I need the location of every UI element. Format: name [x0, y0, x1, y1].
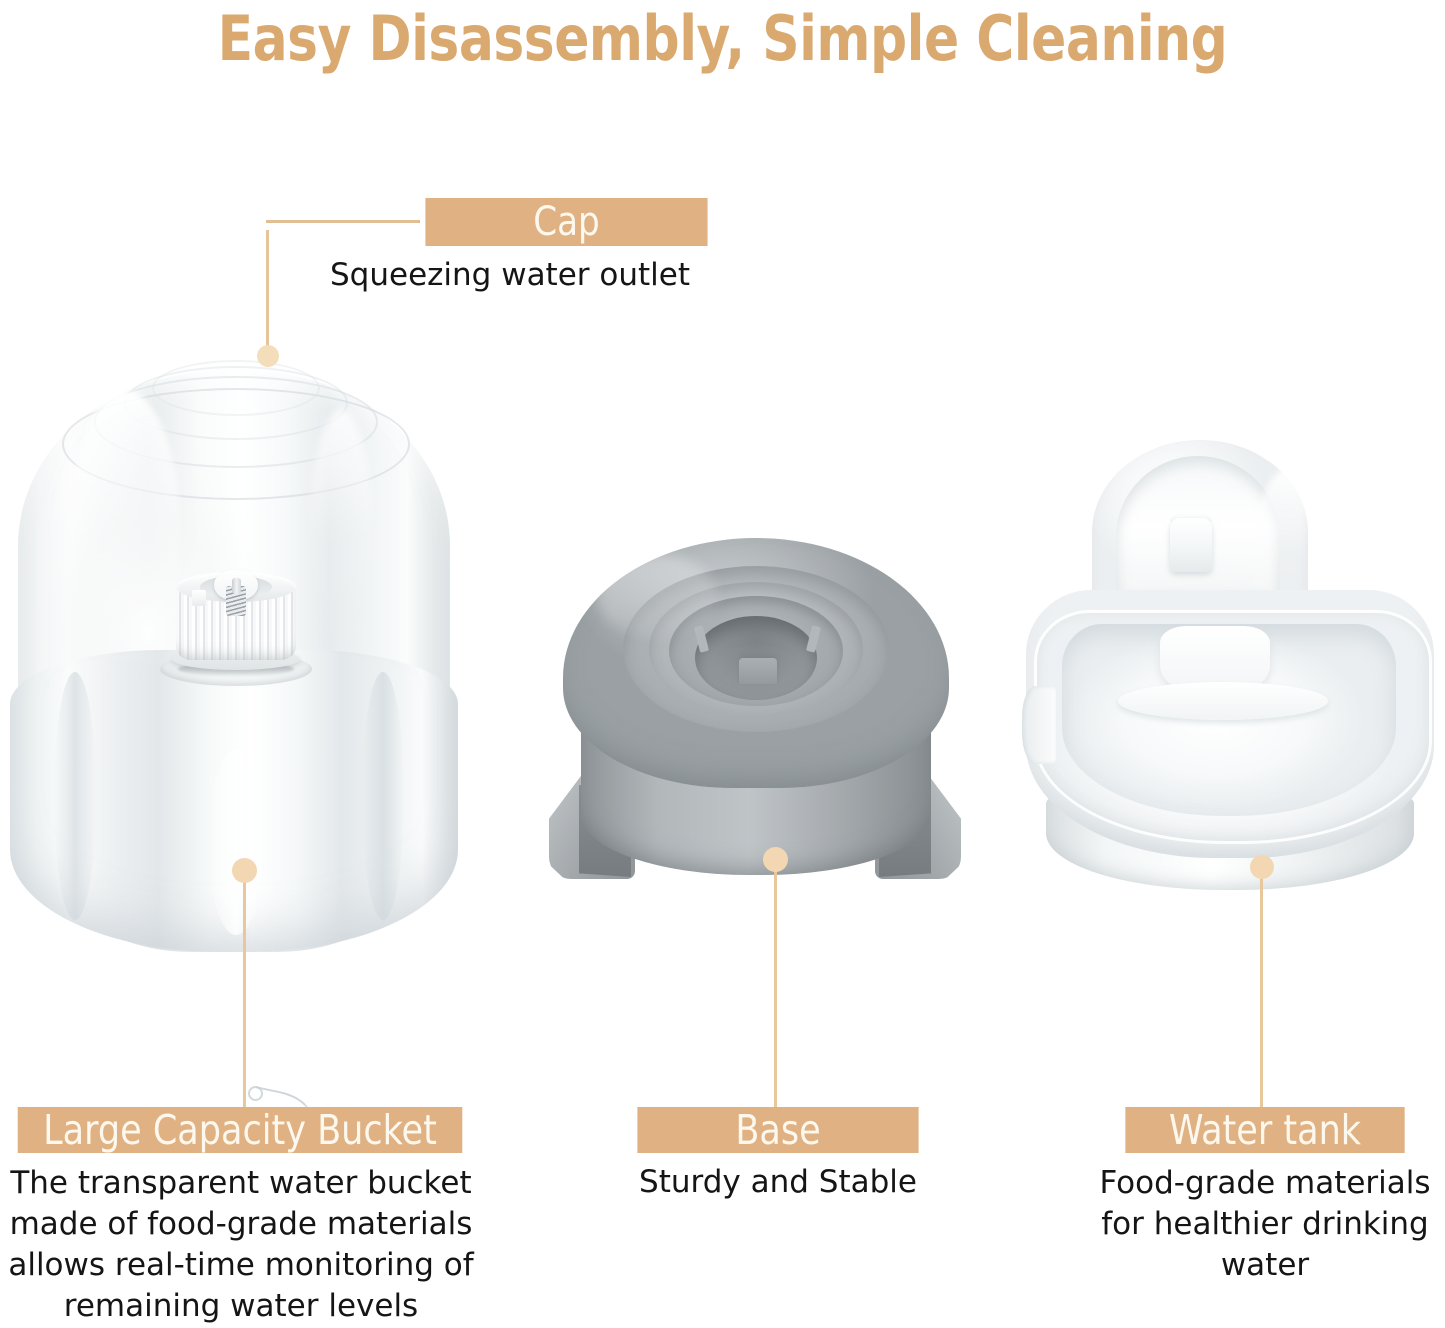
callout-label-cap: Cap: [425, 198, 707, 246]
callout-description-base: Sturdy and Stable: [630, 1163, 926, 1202]
product-image-base: [545, 530, 965, 930]
bucket-highlight: [310, 410, 372, 660]
base-socket-key: [739, 658, 777, 684]
callout-leader-line-cap: [266, 230, 269, 358]
callout-label-base: Base: [637, 1107, 918, 1153]
callout-leader-line-cap: [266, 220, 420, 223]
bucket-groove: [208, 750, 264, 935]
callout-dot-bucket: [232, 858, 257, 883]
product-image-cap: [170, 564, 302, 670]
cap-notch: [192, 590, 206, 606]
callout-description-large-capacity-bucket: The transparent water bucket made of foo…: [0, 1163, 482, 1327]
callout-dot-water-tank: [1250, 855, 1274, 879]
page-title: Easy Disassembly, Simple Cleaning: [51, 0, 1395, 78]
bucket-molded-mark-icon: [248, 1086, 263, 1101]
callout-leader-line-water-tank: [1260, 867, 1263, 1110]
callout-dot-base: [763, 847, 788, 872]
callout-label-large-capacity-bucket: Large Capacity Bucket: [18, 1107, 463, 1153]
product-image-water-tank: [1020, 440, 1440, 940]
callout-leader-line-bucket: [243, 870, 246, 1110]
tank-side-tab: [1022, 686, 1056, 764]
bucket-groove: [362, 672, 404, 920]
callout-dot-cap: [257, 345, 279, 367]
callout-description-water-tank: Food-grade materials for healthier drink…: [1090, 1163, 1440, 1286]
callout-description-cap: Squeezing water outlet: [330, 256, 830, 295]
callout-label-water-tank: Water tank: [1125, 1107, 1404, 1153]
cap-valve-post: [232, 578, 241, 594]
bucket-highlight: [70, 390, 180, 690]
tank-nozzle: [1170, 518, 1212, 572]
bucket-groove: [54, 672, 96, 920]
callout-leader-line-base: [774, 859, 777, 1110]
base-highlight: [597, 554, 717, 638]
tank-rim: [1034, 610, 1432, 844]
bucket-shoulder-ring: [152, 360, 320, 416]
